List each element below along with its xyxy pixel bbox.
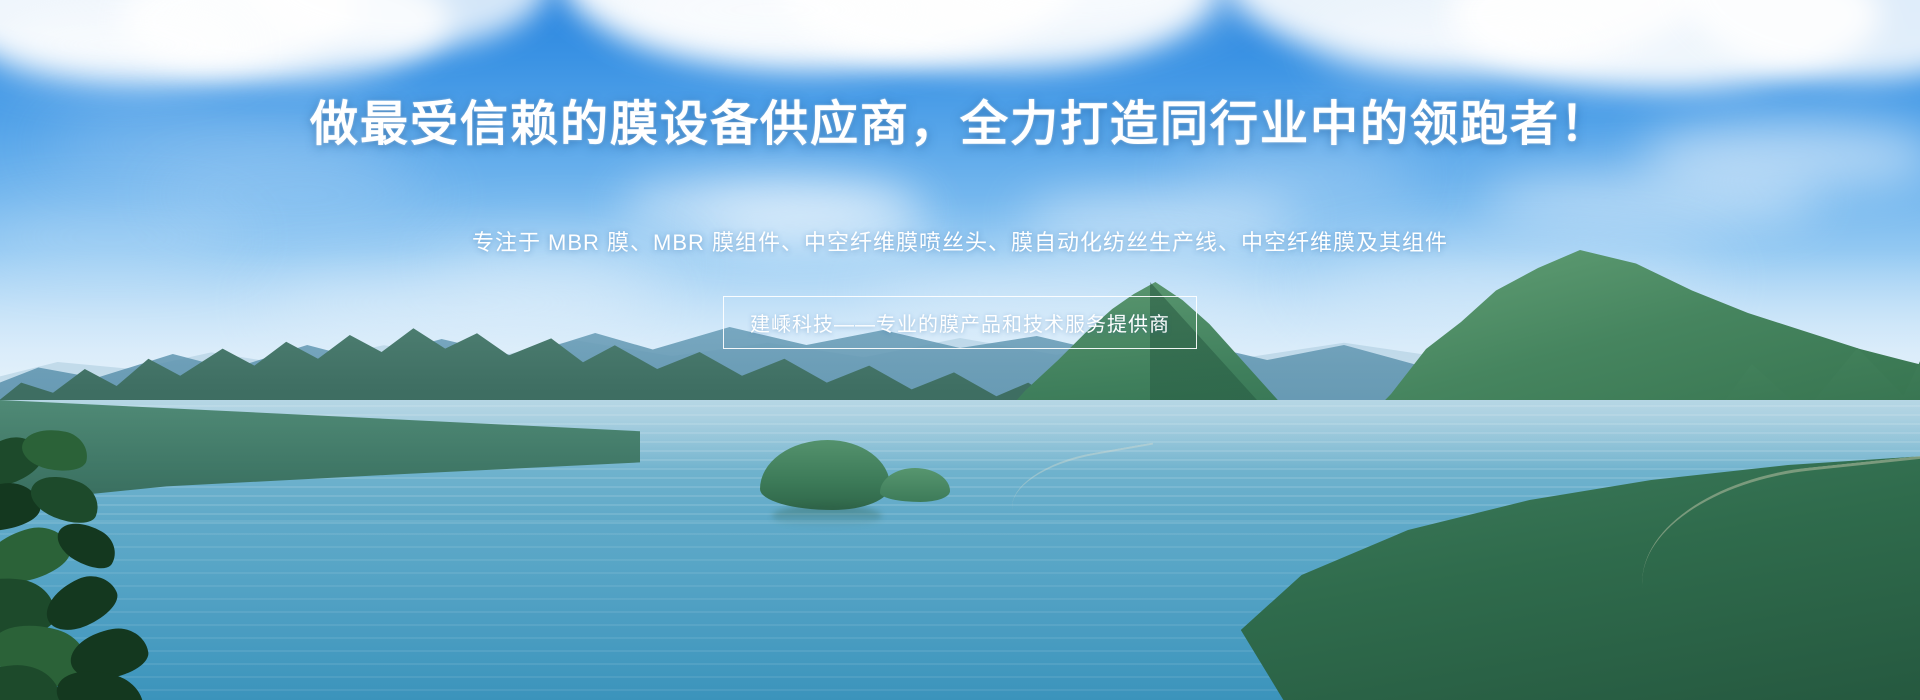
banner-tagline: 建嵊科技——专业的膜产品和技术服务提供商 — [723, 296, 1197, 349]
banner-subtitle: 专注于 MBR 膜、MBR 膜组件、中空纤维膜喷丝头、膜自动化纺丝生产线、中空纤… — [0, 228, 1920, 259]
cloud-icon — [150, 175, 450, 215]
cloud-icon — [1320, 10, 1620, 80]
cloud-icon — [1180, 150, 1420, 198]
cloud-icon — [0, 10, 250, 80]
foreground-foliage — [0, 430, 200, 700]
island-reflection — [772, 505, 882, 527]
banner-tagline-wrap: 建嵊科技——专业的膜产品和技术服务提供商 — [0, 296, 1920, 349]
banner-headline: 做最受信赖的膜设备供应商，全力打造同行业中的领跑者！ — [0, 96, 1920, 154]
hero-banner: 做最受信赖的膜设备供应商，全力打造同行业中的领跑者！ 专注于 MBR 膜、MBR… — [0, 0, 1920, 700]
